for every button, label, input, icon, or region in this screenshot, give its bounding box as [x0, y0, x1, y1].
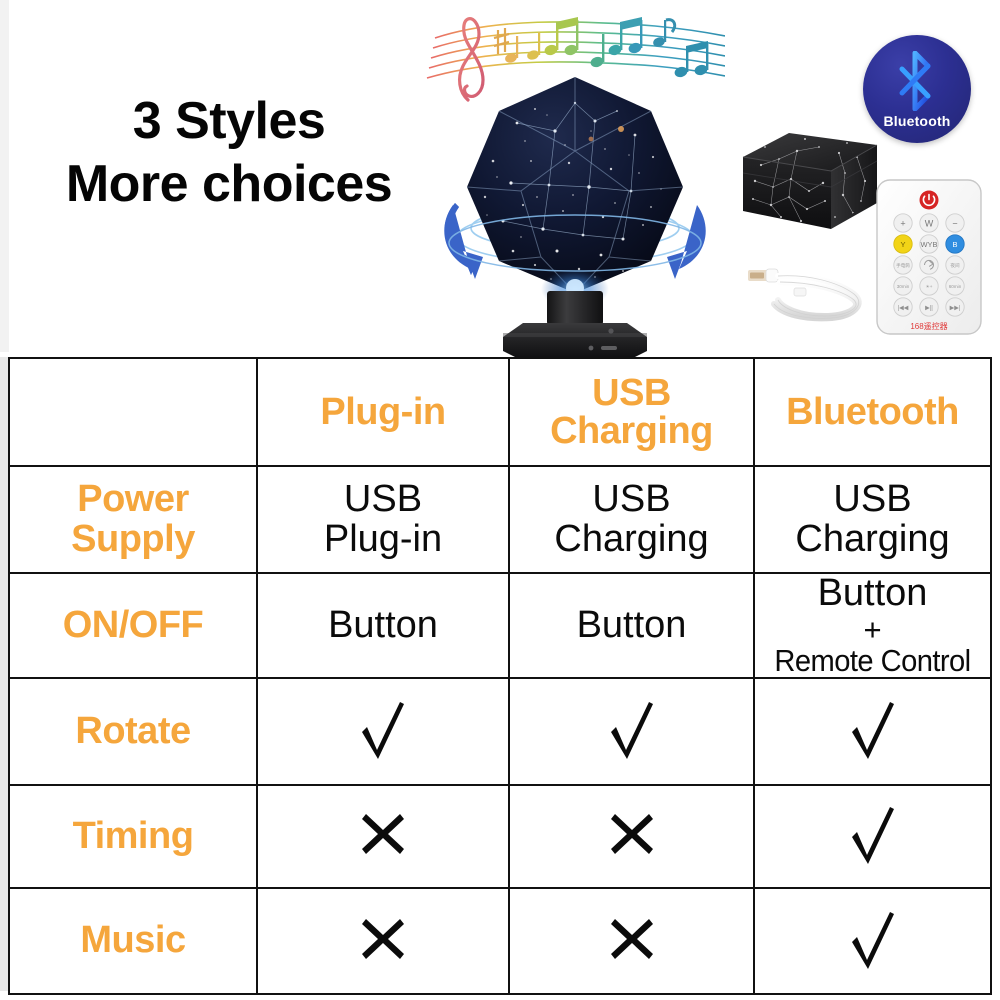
cell-on-off-bluetooth-line3: Remote Control [762, 645, 983, 678]
row-label-timing-text: Timing [73, 815, 194, 857]
table-row-on-off: ON/OFF Button Button Button + Remote Con… [9, 573, 991, 678]
cell-power-supply-usb-charging-line1: USB [592, 478, 670, 520]
cell-timing-plug-in [257, 785, 509, 888]
cell-power-supply-plug-in-line2: Plug-in [324, 518, 442, 560]
svg-text:|◀◀: |◀◀ [898, 306, 909, 312]
cell-power-supply-bluetooth: USB Charging [754, 466, 991, 573]
row-label-music-text: Music [80, 919, 185, 961]
cell-on-off-bluetooth-plus: + [755, 614, 990, 645]
left-edge-strip-bottom [0, 357, 8, 991]
cross-icon [608, 915, 656, 963]
svg-text:Y: Y [900, 240, 905, 249]
cell-on-off-usb-charging-text: Button [577, 604, 687, 646]
cross-icon [608, 810, 656, 858]
bluetooth-badge-label: Bluetooth [863, 113, 971, 129]
headline: 3 Styles More choices [14, 95, 444, 211]
row-label-rotate: Rotate [9, 678, 257, 785]
row-label-rotate-text: Rotate [75, 710, 190, 752]
table-row-rotate: Rotate [9, 678, 991, 785]
product-comparison-page: 3 Styles More choices [0, 0, 1000, 1000]
cell-power-supply-usb-charging: USB Charging [509, 466, 754, 573]
cell-rotate-plug-in [257, 678, 509, 785]
row-label-power-supply: Power Supply [9, 466, 257, 573]
svg-text:30min: 30min [897, 284, 910, 289]
header-label-bluetooth: Bluetooth [786, 391, 959, 433]
left-edge-strip-top [0, 0, 9, 352]
cell-on-off-bluetooth: Button + Remote Control [754, 573, 991, 678]
cell-timing-usb-charging [509, 785, 754, 888]
row-label-timing: Timing [9, 785, 257, 888]
svg-text:夜间: 夜间 [950, 262, 960, 269]
cell-rotate-usb-charging [509, 678, 754, 785]
row-label-on-off-text: ON/OFF [63, 604, 204, 646]
svg-text:▶||: ▶|| [925, 306, 933, 312]
check-icon [356, 698, 410, 760]
header-label-usb-charging-line2: Charging [550, 410, 713, 452]
bluetooth-badge: Bluetooth [863, 35, 971, 143]
cell-on-off-plug-in: Button [257, 573, 509, 678]
cell-timing-bluetooth [754, 785, 991, 888]
header-cell-plug-in: Plug-in [257, 358, 509, 466]
usb-charging-cable [742, 248, 877, 328]
svg-text:60min: 60min [949, 284, 962, 289]
header-cell-empty [9, 358, 257, 466]
svg-text:W: W [925, 219, 934, 229]
row-label-power-supply-line1: Power [77, 478, 189, 520]
cell-power-supply-usb-charging-line2: Charging [554, 518, 708, 560]
row-label-on-off: ON/OFF [9, 573, 257, 678]
check-icon [846, 698, 900, 760]
header-cell-usb-charging: USB Charging [509, 358, 754, 466]
row-label-music: Music [9, 888, 257, 994]
table-row-music: Music [9, 888, 991, 994]
cell-power-supply-plug-in: USB Plug-in [257, 466, 509, 573]
svg-text:▶▶|: ▶▶| [950, 306, 961, 312]
table-header-row: Plug-in USB Charging Bluetooth [9, 358, 991, 466]
cell-rotate-bluetooth [754, 678, 991, 785]
cell-music-bluetooth [754, 888, 991, 994]
bluetooth-icon [894, 51, 940, 111]
svg-text:手电筒: 手电筒 [896, 262, 910, 269]
table-row-timing: Timing [9, 785, 991, 888]
cell-music-usb-charging [509, 888, 754, 994]
star-projector-lamp [425, 65, 725, 360]
svg-text:☀+: ☀+ [926, 284, 933, 289]
feature-comparison-table: Plug-in USB Charging Bluetooth Power Sup… [8, 357, 992, 995]
cross-icon [359, 810, 407, 858]
svg-text:WYB: WYB [920, 240, 937, 249]
check-icon [846, 803, 900, 865]
header-label-usb-charging-line1: USB [592, 372, 671, 414]
cell-music-plug-in [257, 888, 509, 994]
cross-icon [359, 915, 407, 963]
svg-text:−: − [952, 219, 957, 229]
headline-line-2: More choices [14, 158, 444, 211]
headline-line-1: 3 Styles [14, 95, 444, 148]
cell-power-supply-bluetooth-line1: USB [833, 478, 911, 520]
remote-model-text: 168遥控器 [910, 321, 947, 331]
cell-power-supply-bluetooth-line2: Charging [795, 518, 949, 560]
row-label-power-supply-line2: Supply [71, 518, 195, 560]
constellation-gift-box [735, 125, 885, 240]
svg-text:B: B [952, 240, 957, 249]
cell-on-off-usb-charging: Button [509, 573, 754, 678]
check-icon [605, 698, 659, 760]
header-cell-bluetooth: Bluetooth [754, 358, 991, 466]
cell-on-off-plug-in-text: Button [328, 604, 438, 646]
cell-power-supply-plug-in-line1: USB [344, 478, 422, 520]
svg-text:+: + [900, 219, 905, 229]
header-label-plug-in: Plug-in [320, 391, 445, 433]
cell-on-off-bluetooth-line1: Button [818, 572, 928, 614]
ir-remote-control: +W− Y WYB B 手电筒夜间 [873, 178, 985, 336]
check-icon [846, 908, 900, 970]
table-row-power-supply: Power Supply USB Plug-in USB Charging US… [9, 466, 991, 573]
